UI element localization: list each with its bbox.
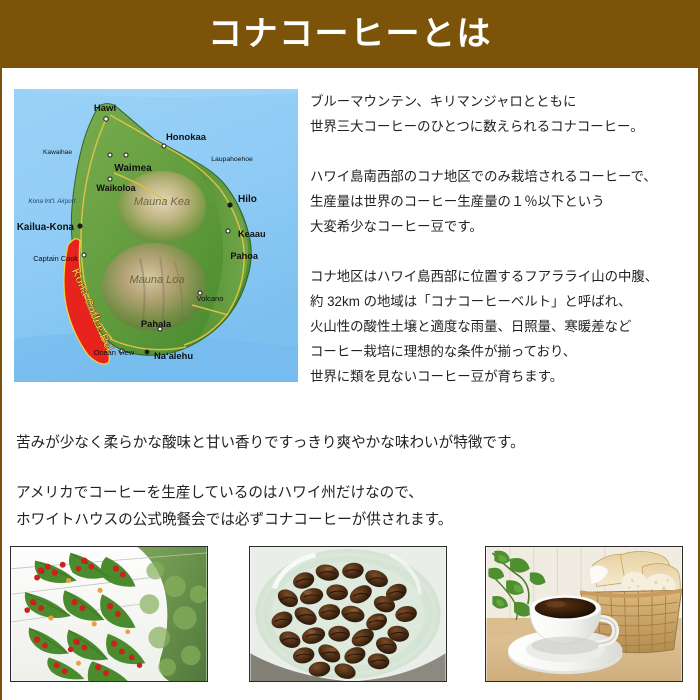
coffee-cherries-illustration [11,547,207,681]
map-label-captain-cook: Captain Cook [33,254,78,263]
map-label-hawi: Hawi [94,103,116,114]
map-label-pahala: Pahala [141,318,172,329]
map-label-laupahoehoe: Laupahoehoe [211,156,253,163]
map-label-mauna-kea: Mauna Kea [134,196,190,208]
hawaii-kona-map: Hawi Honokaa Kawaihae Waimea Laupahoehoe… [14,89,298,382]
roasted-beans-illustration [250,547,446,681]
map-label-waimea: Waimea [114,163,152,174]
map-label-hilo: Hilo [238,194,257,205]
map-label-volcano: Volcano [196,294,223,303]
coffee-cup-illustration [486,547,682,681]
photo-roasted-beans [249,546,447,682]
page-title: コナコーヒーとは [208,17,492,51]
map-label-pahoa: Pahoa [230,251,258,261]
intro-paragraph-2: ハワイ島南西部のコナ地区でのみ栽培されるコーヒーで、 生産量は世界のコーヒー生産… [310,164,692,239]
taste-description: 苦みが少なく柔らかな酸味と甘い香りですっきり爽やかな味わいが特徴です。 [16,430,686,457]
map-label-kawaihae: Kawaihae [43,149,72,156]
intro-section: Hawi Honokaa Kawaihae Waimea Laupahoehoe… [2,68,698,418]
map-label-kona-airport: Kona Int'l. Airport [28,198,75,205]
map-label-naalehu: Na‘alehu [154,350,193,361]
header-banner: コナコーヒーとは [0,0,700,68]
intro-paragraph-3: コナ地区はハワイ島西部に位置するフアラライ山の中腹、 約 32km の地域は「コ… [310,264,692,389]
map-label-kailua-kona: Kailua-Kona [17,222,75,233]
map-illustration: Hawi Honokaa Kawaihae Waimea Laupahoehoe… [14,89,298,382]
intro-text-column: ブルーマウンテン、キリマンジャロとともに 世界三大コーヒーのひとつに数えられるコ… [310,89,692,389]
body-frame: Hawi Honokaa Kawaihae Waimea Laupahoehoe… [0,68,700,700]
photo-coffee-cup [485,546,683,682]
map-label-ocean-view: Ocean View [94,348,135,357]
map-label-honokaa: Honokaa [166,132,207,143]
map-label-keaau: Keaau [238,229,266,239]
photo-gallery [2,546,698,686]
map-label-waikoloa: Waikoloa [96,183,136,193]
white-house-description: アメリカでコーヒーを生産しているのはハワイ州だけなので、 ホワイトハウスの公式晩… [16,480,686,534]
photo-coffee-cherries [10,546,208,682]
page-root: コナコーヒーとは [0,0,700,700]
map-label-mauna-loa: Mauna Loa [129,274,184,286]
intro-paragraph-1: ブルーマウンテン、キリマンジャロとともに 世界三大コーヒーのひとつに数えられるコ… [310,89,692,139]
